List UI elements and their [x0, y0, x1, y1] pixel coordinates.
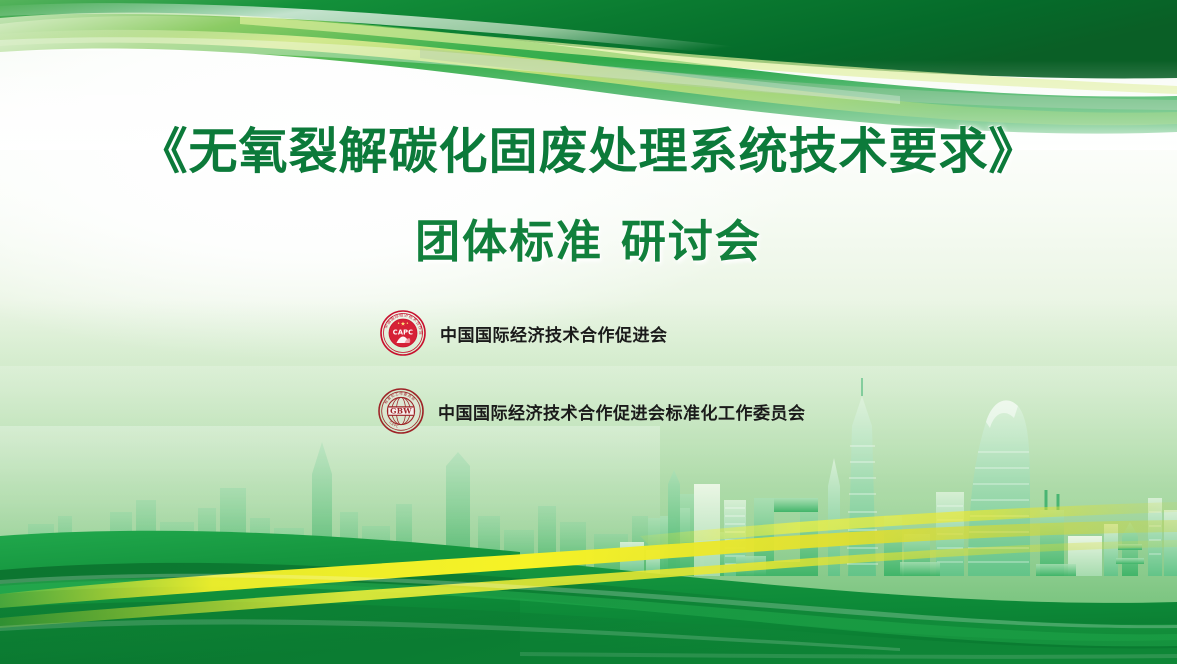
capc-red-circular-seal-icon: 中国国际经济技术合作促进会 CAPC — [380, 310, 426, 356]
organization-name-gbw: 中国国际经济技术合作促进会标准化工作委员会 — [438, 399, 806, 424]
svg-text:GBW: GBW — [390, 407, 412, 416]
page-subtitle: 团体标准 研讨会 — [0, 205, 1177, 270]
gbw-red-globe-seal-icon: GBW 标准化工作委员会 CAPC — [378, 388, 424, 434]
organization-row-gbw: GBW 标准化工作委员会 CAPC 中国国际经济技术合作促进会标准化工作委员会 — [378, 388, 806, 434]
presentation-title-slide: 《无氧裂解碳化固废处理系统技术要求》 团体标准 研讨会 中国国际经济技术合作促进… — [0, 0, 1177, 664]
organization-row-capc: 中国国际经济技术合作促进会 CAPC 中国国际经济技术合作促进会 — [380, 310, 668, 356]
slide-content: 《无氧裂解碳化固废处理系统技术要求》 团体标准 研讨会 中国国际经济技术合作促进… — [0, 0, 1177, 664]
page-title: 《无氧裂解碳化固废处理系统技术要求》 — [0, 112, 1177, 183]
svg-text:CAPC: CAPC — [393, 329, 413, 337]
organization-name-capc: 中国国际经济技术合作促进会 — [440, 321, 668, 346]
